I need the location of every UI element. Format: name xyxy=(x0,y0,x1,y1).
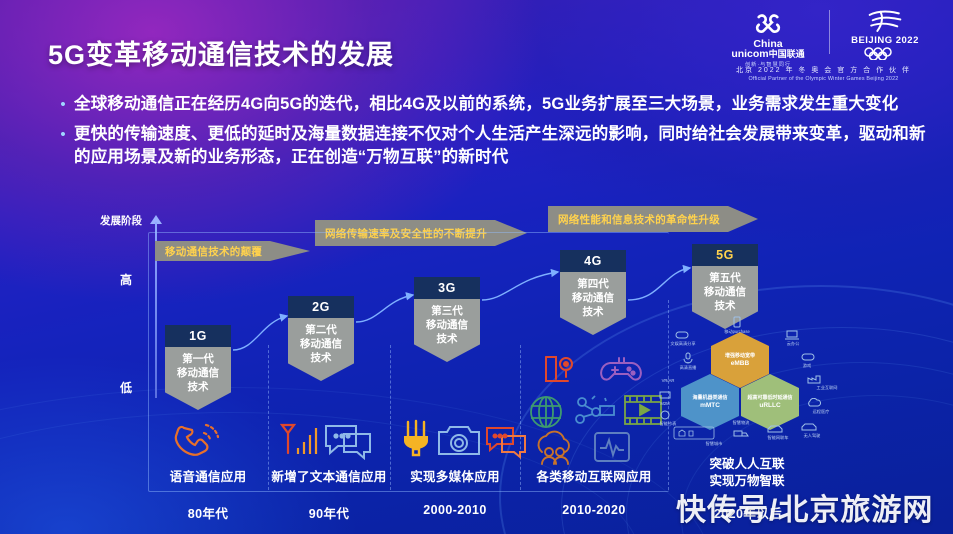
generation-5g-desc: 第五代 移动通信 技术 xyxy=(692,266,758,329)
microphone-icon xyxy=(683,352,693,364)
signal-bars-icon xyxy=(278,420,320,460)
map-location-icon xyxy=(540,352,580,388)
hexagon-embb-code: eMBB xyxy=(731,360,749,368)
era-label-2: 90年代 xyxy=(268,503,390,522)
era-label-3: 2000-2010 xyxy=(390,503,520,517)
era-caption-1: 语音通信应用 xyxy=(148,466,268,485)
slide: 5G变革移动通信技术的发展 China unicom中国联通 创新·与智慧同行 xyxy=(0,0,953,534)
hex-label: 智慧物流 xyxy=(721,420,761,426)
chat-bubbles-icon xyxy=(322,420,374,460)
hex-label: 移动purchase xyxy=(713,329,761,335)
cloud-icon xyxy=(807,398,821,408)
autonomous-car-icon xyxy=(801,422,817,432)
hex-label: 智能网联车 xyxy=(759,435,797,441)
hex-label: 工业互联网 xyxy=(805,385,849,391)
hexagon-mmtc-cn: 海量机器类通信 xyxy=(692,395,727,401)
hex-label: M2M xyxy=(653,401,677,406)
era-label-1: 80年代 xyxy=(148,503,268,522)
truck-icon xyxy=(733,428,749,438)
era-label-4: 2010-2020 xyxy=(520,503,668,517)
hex-label: 云办公 xyxy=(775,341,811,347)
era-caption-5-line1: 突破人人互联 xyxy=(672,456,822,473)
hex-label: 游戏 xyxy=(791,363,823,369)
gamepad-icon xyxy=(801,352,815,362)
hex-label: 文娱高清分享 xyxy=(659,341,707,347)
hexagon-mmtc-code: mMTC xyxy=(700,402,720,410)
era-caption-3: 实现多媒体应用 xyxy=(390,466,520,485)
phone-call-icon xyxy=(172,418,226,460)
hexagon-urllc-code: uRLLC xyxy=(759,402,780,410)
era-caption-2: 新增了文本通信应用 xyxy=(268,466,390,485)
5g-scenario-diagram: 增强移动宽带 eMBB 海量机器类通信 mMTC 超高可靠低时延通信 uRLLC… xyxy=(655,322,845,450)
hexagon-urllc-cn: 超高可靠低时延通信 xyxy=(747,395,792,401)
desc-line-3: 技术 xyxy=(692,299,758,313)
generation-5g-label: 5G xyxy=(692,244,758,266)
watermark: 快传号/北京旅游网 xyxy=(676,485,933,529)
hexagon-embb-cn: 增强移动宽带 xyxy=(725,353,755,359)
lamp-icon xyxy=(398,418,434,460)
globe-icon xyxy=(528,394,564,430)
smart-city-icon xyxy=(673,426,715,440)
vr-headset-icon xyxy=(675,330,689,340)
m2m-icon xyxy=(659,390,671,400)
hex-label: 无人驾驶 xyxy=(793,433,831,439)
network-nodes-icon xyxy=(572,392,616,430)
meter-icon xyxy=(659,410,671,420)
camera-icon xyxy=(436,420,484,460)
factory-icon xyxy=(807,374,821,384)
hex-label: 远程医疗 xyxy=(801,409,841,415)
desc-line-1: 第五代 xyxy=(692,271,758,285)
health-monitor-icon xyxy=(592,430,632,464)
social-group-icon xyxy=(532,430,578,466)
generation-5g[interactable]: 5G 第五代 移动通信 技术 xyxy=(692,244,758,329)
connected-car-icon xyxy=(767,424,783,434)
smartphone-icon xyxy=(731,316,743,328)
hex-label: 智慧城市 xyxy=(695,441,733,447)
desc-line-2: 移动通信 xyxy=(692,285,758,299)
hex-label: 高清直播 xyxy=(667,365,709,371)
era-caption-4: 各类移动互联网应用 xyxy=(520,466,668,485)
chat-bubbles-icon xyxy=(484,424,528,460)
gamepad-icon xyxy=(598,354,644,386)
hex-label: VR/AR xyxy=(651,378,685,383)
laptop-icon xyxy=(785,330,799,340)
